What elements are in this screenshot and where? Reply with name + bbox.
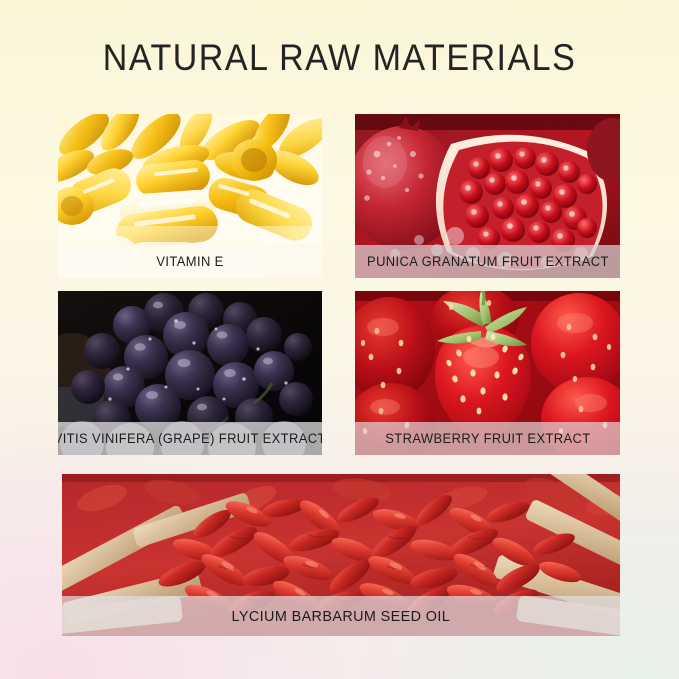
ingredient-card-punica-granatum[interactable]: PUNICA GRANATUM FRUIT EXTRACT xyxy=(355,114,620,278)
ingredient-label-vitamin-e: VITAMIN E xyxy=(156,254,223,269)
ingredient-card-vitis-vinifera[interactable]: VITIS VINIFERA (GRAPE) FRUIT EXTRACT xyxy=(58,291,322,455)
ingredient-label-punica-granatum: PUNICA GRANATUM FRUIT EXTRACT xyxy=(367,254,609,269)
ingredient-label-strawberry: STRAWBERRY FRUIT EXTRACT xyxy=(385,431,590,446)
ingredient-card-strawberry[interactable]: STRAWBERRY FRUIT EXTRACT xyxy=(355,291,620,455)
card-label-band: STRAWBERRY FRUIT EXTRACT xyxy=(355,422,620,455)
poster-root: NATURAL RAW MATERIALS xyxy=(0,0,679,679)
ingredient-label-lycium-barbarum: LYCIUM BARBARUM SEED OIL xyxy=(232,608,451,625)
ingredient-card-vitamin-e[interactable]: VITAMIN E xyxy=(58,114,322,278)
card-label-band: PUNICA GRANATUM FRUIT EXTRACT xyxy=(355,245,620,278)
page-title: NATURAL RAW MATERIALS xyxy=(27,36,652,80)
card-label-band: VITAMIN E xyxy=(58,245,322,278)
card-label-band: VITIS VINIFERA (GRAPE) FRUIT EXTRACT xyxy=(58,422,322,455)
ingredient-card-lycium-barbarum[interactable]: LYCIUM BARBARUM SEED OIL xyxy=(62,474,620,636)
ingredient-label-vitis-vinifera: VITIS VINIFERA (GRAPE) FRUIT EXTRACT xyxy=(58,431,322,446)
card-label-band: LYCIUM BARBARUM SEED OIL xyxy=(62,596,620,636)
